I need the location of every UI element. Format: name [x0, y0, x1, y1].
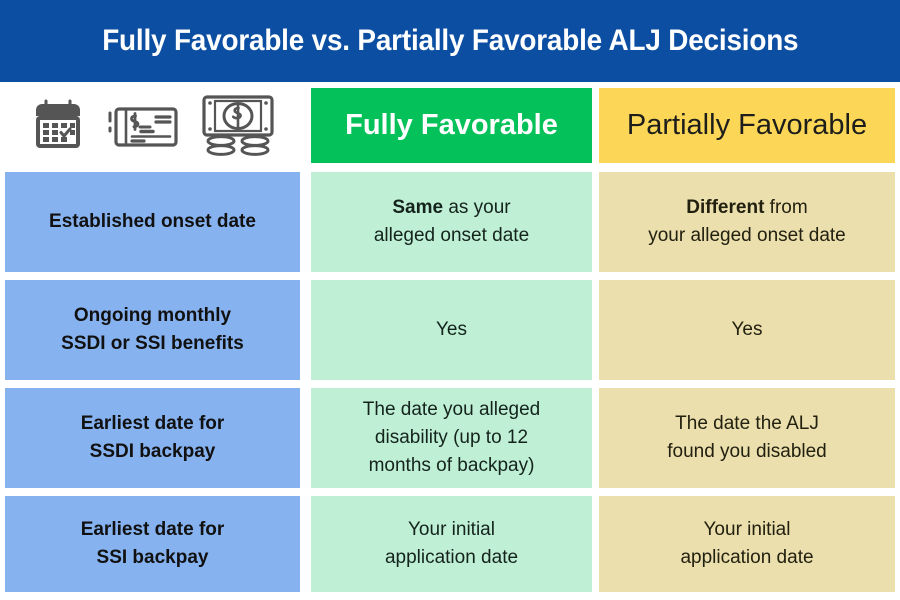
- cell-rest: from: [764, 197, 807, 218]
- row-label-line2: SSI backpay: [81, 544, 225, 572]
- cell-line1: Different from: [648, 194, 846, 222]
- cell-line2: application date: [680, 544, 813, 572]
- table-cell-partially: Yes: [599, 280, 895, 380]
- cell-line1: Yes: [436, 316, 467, 344]
- cell-line1: The date the ALJ: [667, 410, 827, 438]
- title-banner: Fully Favorable vs. Partially Favorable …: [0, 0, 900, 82]
- cash-money-icon: [198, 93, 278, 159]
- row-label-line2: SSDI backpay: [81, 438, 225, 466]
- table-row-label: Ongoing monthly SSDI or SSI benefits: [5, 280, 300, 380]
- table-cell-fully: The date you alleged disability (up to 1…: [311, 388, 592, 488]
- check-payment-icon: [106, 100, 180, 152]
- cell-line1: Yes: [732, 316, 763, 344]
- cell-line2: disability (up to 12: [363, 424, 540, 452]
- table-row-label: Earliest date for SSI backpay: [5, 496, 300, 592]
- cell-line1: Your initial: [385, 516, 518, 544]
- cell-line1: The date you alleged: [363, 396, 540, 424]
- calendar-icon: [28, 98, 88, 154]
- cell-line3: months of backpay): [363, 452, 540, 480]
- cell-line2: found you disabled: [667, 438, 827, 466]
- cell-lead: Different: [686, 197, 764, 218]
- table-cell-fully: Yes: [311, 280, 592, 380]
- header-icon-strip: [5, 88, 300, 163]
- row-label-line2: SSDI or SSI benefits: [61, 330, 244, 358]
- cell-line1: Same as your: [374, 194, 529, 222]
- table-row-label: Established onset date: [5, 172, 300, 272]
- page-title: Fully Favorable vs. Partially Favorable …: [102, 24, 798, 58]
- table-cell-partially: Your initial application date: [599, 496, 895, 592]
- table-cell-fully: Same as your alleged onset date: [311, 172, 592, 272]
- cell-line1: Your initial: [680, 516, 813, 544]
- row-label-line1: Earliest date for: [81, 516, 225, 544]
- table-cell-partially: The date the ALJ found you disabled: [599, 388, 895, 488]
- cell-lead: Same: [392, 197, 443, 218]
- infographic-root: Fully Favorable vs. Partially Favorable …: [0, 0, 900, 600]
- cell-line2: application date: [385, 544, 518, 572]
- row-label-line1: Ongoing monthly: [61, 302, 244, 330]
- table-row-label: Earliest date for SSDI backpay: [5, 388, 300, 488]
- table-cell-partially: Different from your alleged onset date: [599, 172, 895, 272]
- column-header-fully-favorable: Fully Favorable: [311, 88, 592, 163]
- row-label-line1: Earliest date for: [81, 410, 225, 438]
- row-label-line1: Established onset date: [49, 208, 256, 236]
- table-cell-fully: Your initial application date: [311, 496, 592, 592]
- cell-rest: as your: [443, 197, 511, 218]
- cell-line2: alleged onset date: [374, 222, 529, 250]
- column-header-partially-favorable: Partially Favorable: [599, 88, 895, 163]
- cell-line2: your alleged onset date: [648, 222, 846, 250]
